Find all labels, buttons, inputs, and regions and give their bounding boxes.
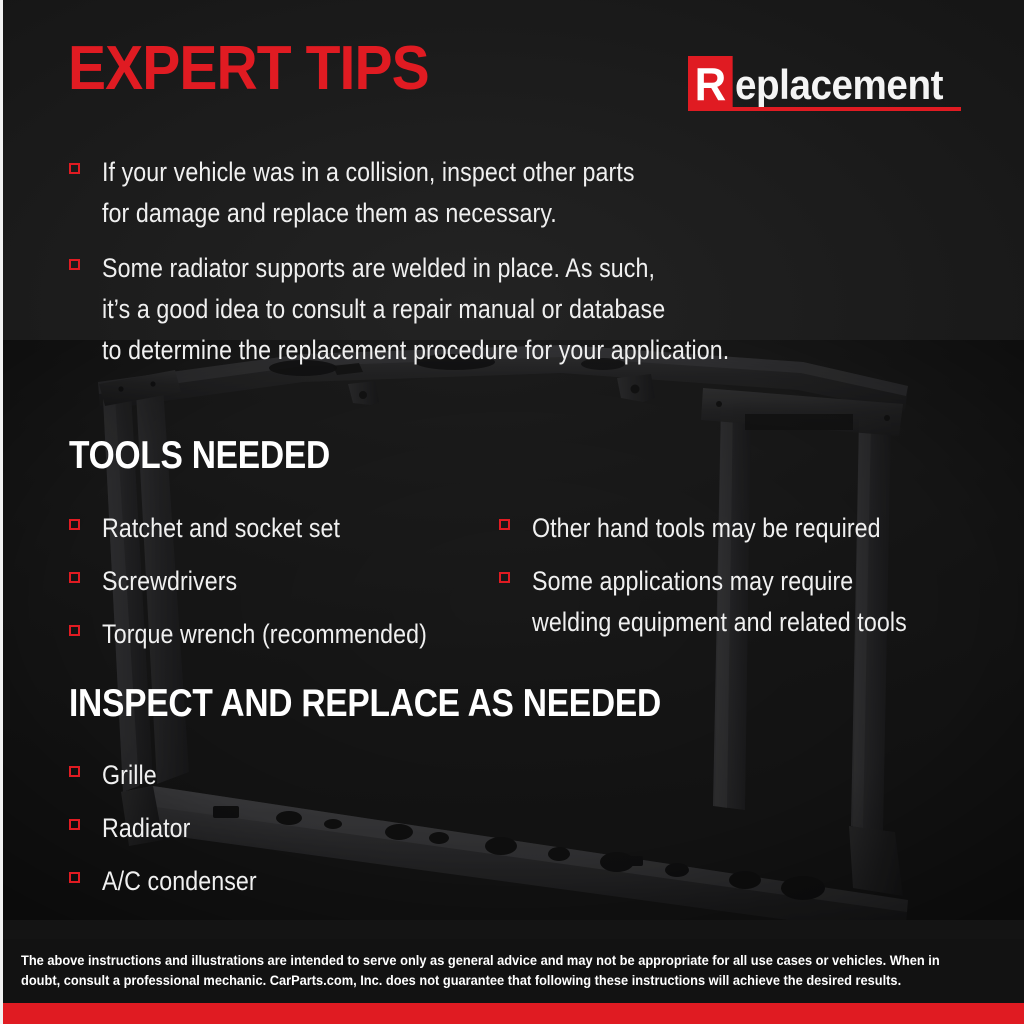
footer-accent-bar: [3, 1003, 1024, 1024]
square-bullet-icon: [69, 766, 80, 777]
inspect-replace-heading: INSPECT AND REPLACE AS NEEDED: [69, 684, 869, 723]
list-item: Radiator: [69, 808, 999, 849]
list-item-label: Some radiator supports are welded in pla…: [102, 248, 729, 371]
list-item: Some applications may require welding eq…: [499, 561, 999, 643]
square-bullet-icon: [499, 572, 510, 583]
list-item-label: Some applications may require welding eq…: [532, 561, 907, 643]
tools-left-column: Ratchet and socket set Screwdrivers Torq…: [69, 508, 499, 667]
logo-underline: [688, 107, 961, 111]
list-item: Other hand tools may be required: [499, 508, 999, 549]
list-item: Screwdrivers: [69, 561, 499, 602]
logo-mark-r: R: [688, 56, 733, 111]
list-item: Some radiator supports are welded in pla…: [69, 248, 999, 371]
list-item-label: Ratchet and socket set: [102, 508, 340, 549]
list-item-label: A/C condenser: [102, 861, 257, 902]
brand-logo: R eplacement: [688, 55, 961, 111]
logo-wordmark: eplacement: [735, 64, 943, 111]
page-title: EXPERT TIPS: [68, 38, 429, 100]
list-item-label: Screwdrivers: [102, 561, 237, 602]
list-item: Torque wrench (recommended): [69, 614, 499, 655]
list-item: If your vehicle was in a collision, insp…: [69, 152, 999, 234]
square-bullet-icon: [69, 872, 80, 883]
list-item: A/C condenser: [69, 861, 999, 902]
list-item: Ratchet and socket set: [69, 508, 499, 549]
list-item-label: Grille: [102, 755, 157, 796]
expert-tips-poster: EXPERT TIPS R eplacement If your vehicle…: [0, 0, 1024, 1024]
list-item-label: Other hand tools may be required: [532, 508, 881, 549]
square-bullet-icon: [69, 819, 80, 830]
square-bullet-icon: [69, 163, 80, 174]
header: EXPERT TIPS R eplacement: [3, 0, 1024, 130]
tools-right-column: Other hand tools may be required Some ap…: [499, 508, 999, 667]
square-bullet-icon: [69, 259, 80, 270]
square-bullet-icon: [69, 625, 80, 636]
inspect-replace-section: INSPECT AND REPLACE AS NEEDED Grille Rad…: [69, 684, 999, 914]
square-bullet-icon: [69, 572, 80, 583]
list-item-label: Torque wrench (recommended): [102, 614, 427, 655]
tools-needed-heading: TOOLS NEEDED: [69, 436, 869, 475]
square-bullet-icon: [69, 519, 80, 530]
inspect-replace-list: Grille Radiator A/C condenser: [69, 755, 999, 902]
intro-tips-list: If your vehicle was in a collision, insp…: [69, 152, 999, 385]
square-bullet-icon: [499, 519, 510, 530]
footer-disclaimer-text: The above instructions and illustrations…: [21, 951, 956, 991]
tools-columns: Ratchet and socket set Screwdrivers Torq…: [69, 508, 999, 667]
list-item-label: If your vehicle was in a collision, insp…: [102, 152, 635, 234]
footer-disclaimer: The above instructions and illustrations…: [3, 939, 1024, 1003]
list-item: Grille: [69, 755, 999, 796]
list-item-label: Radiator: [102, 808, 190, 849]
tools-needed-section: TOOLS NEEDED Ratchet and socket set Scre…: [69, 436, 999, 667]
